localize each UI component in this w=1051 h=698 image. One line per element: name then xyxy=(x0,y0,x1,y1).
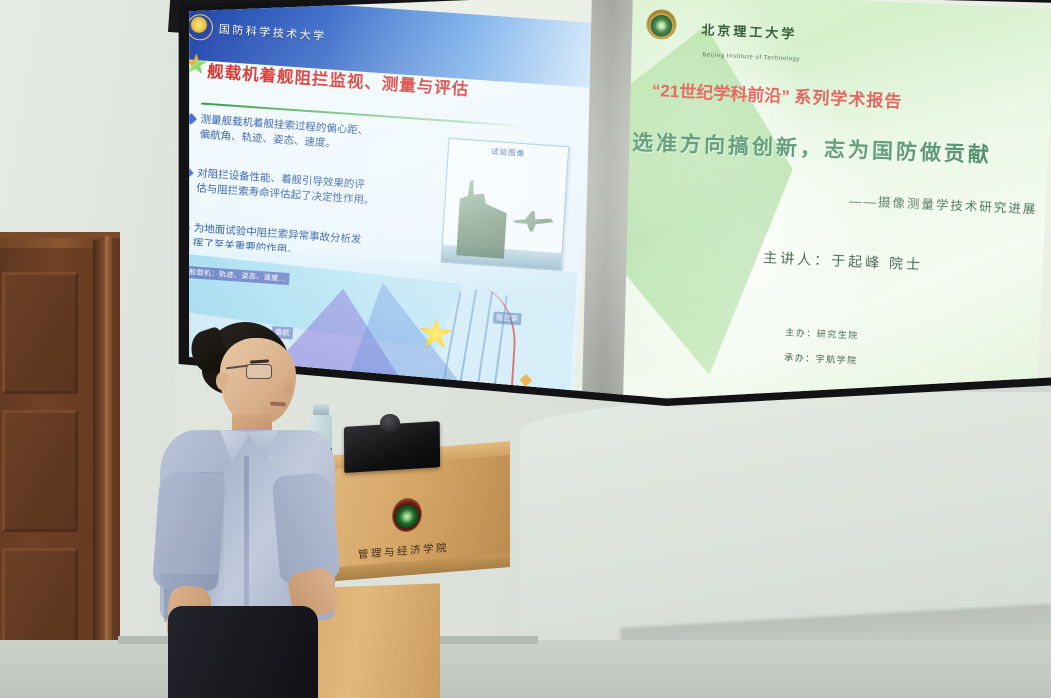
trousers xyxy=(168,606,318,698)
slide-left-bullet-2: 对阻拦设备性能、着舰引导效果的评 估与阻拦索寿命评估起了决定性作用。 xyxy=(183,166,442,214)
door-edge-highlight xyxy=(105,236,112,698)
trajectory-curve xyxy=(440,284,519,387)
ground-marker-icon xyxy=(520,375,533,388)
door-panel-top xyxy=(2,272,78,394)
eyeglasses-icon xyxy=(246,364,272,379)
door-panel-middle xyxy=(2,410,78,532)
schematic-bottom-caption: 阻拦索：波形、振荡运动 xyxy=(478,404,561,406)
schematic-tag-cable: 阻拦索 xyxy=(493,312,522,326)
bullet-text-2: 对阻拦设备性能、着舰引导效果的评 估与阻拦索寿命评估起了决定性作用。 xyxy=(196,167,376,209)
shirt-placket xyxy=(244,456,249,622)
lecture-hall-photo: 国防科学技术大学 舰载机着舰阻拦监视、测量与评估 测量舰载机着舰挂索过程的偏心距… xyxy=(0,0,1051,698)
presenter-person-icon xyxy=(150,322,365,698)
bullet-text-1: 测量舰载机着舰挂索过程的偏心距、 偏航角、轨迹、姿态、速度。 xyxy=(199,113,368,154)
microphone-icon[interactable] xyxy=(380,414,400,432)
slide-right-co-organizer: 承办：宇航学院 xyxy=(784,350,858,366)
decorative-leaf-graphic xyxy=(613,21,799,378)
slide-right-subtitle: ——摄像测量学技术研究进展 xyxy=(849,191,1038,219)
ear xyxy=(216,372,228,390)
series-suffix-text: 系列学术报告 xyxy=(794,88,903,112)
nose xyxy=(280,378,292,394)
bit-emblem-icon xyxy=(646,9,677,40)
slide-right[interactable]: 北京理工大学 Beijing Institute of Technology “… xyxy=(613,0,1051,406)
test-image-panel: 试验图像 xyxy=(441,138,569,271)
slide-left-bullet-1: 测量舰载机着舰挂索过程的偏心距、 偏航角、轨迹、姿态、速度。 xyxy=(186,112,445,160)
right-sleeve xyxy=(271,472,340,585)
slide-right-org-name-cn: 北京理工大学 xyxy=(701,20,798,43)
nudt-emblem-icon xyxy=(186,14,214,42)
fighter-jet-icon xyxy=(513,208,555,235)
slide-right-organizer: 主办：研究生院 xyxy=(785,326,859,342)
slide-left-org-name: 国防科学技术大学 xyxy=(218,21,327,45)
slide-right-speaker: 主讲人：于起峰 院士 xyxy=(763,248,924,275)
test-image-caption: 试验图像 xyxy=(449,143,568,162)
